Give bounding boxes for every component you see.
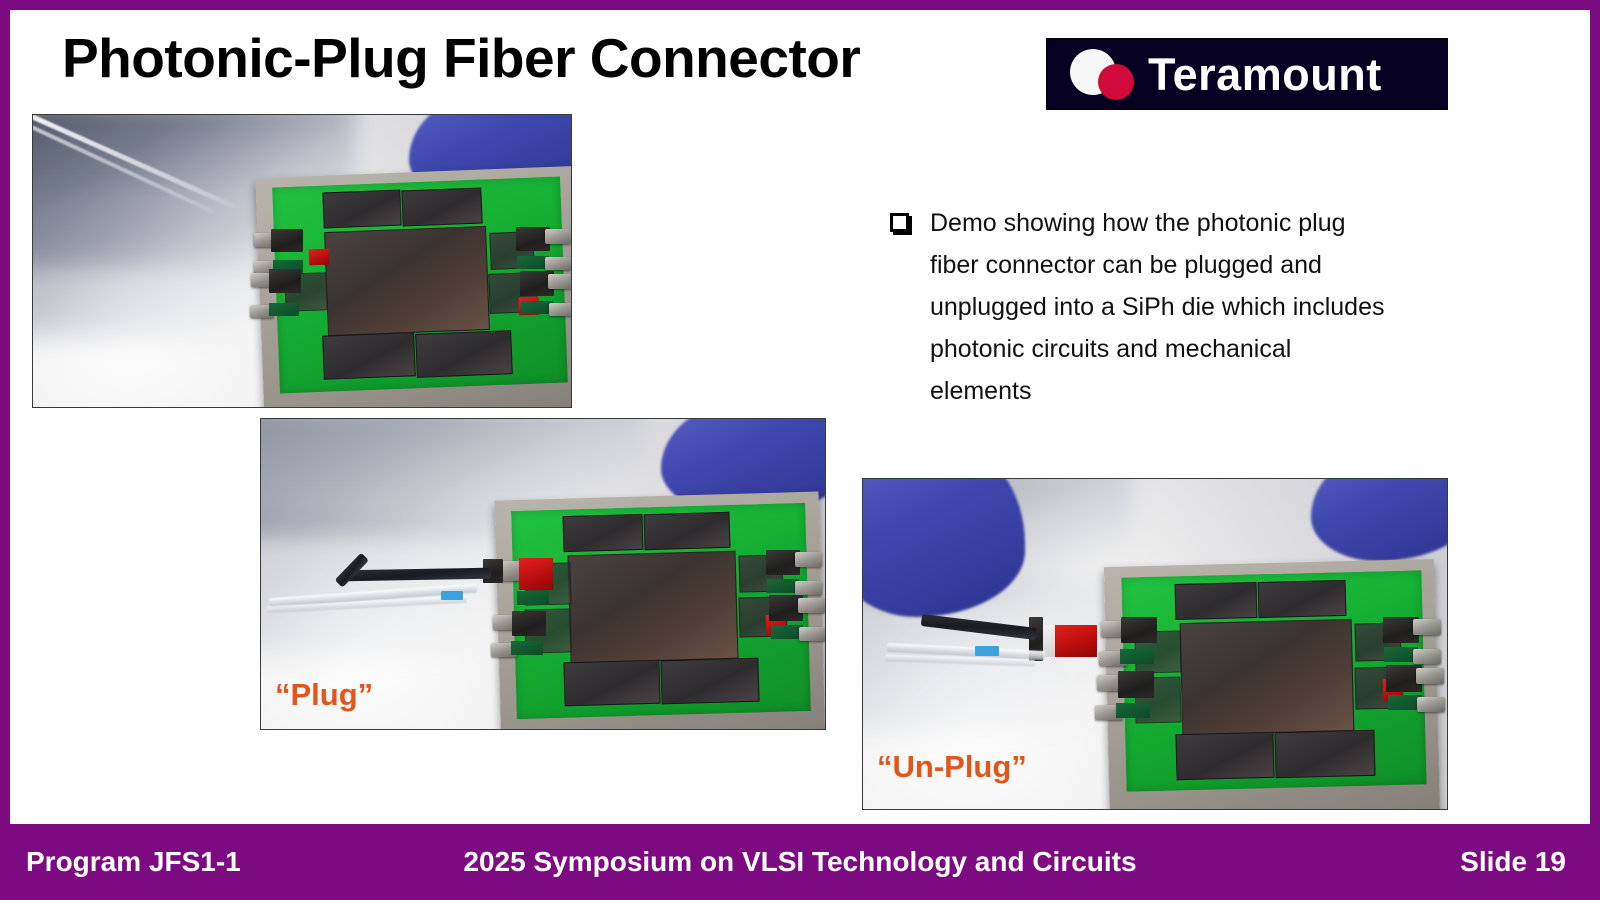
photo-caption-plug: “Plug” bbox=[275, 677, 373, 713]
hollow-square-bullet-icon bbox=[890, 213, 912, 235]
bullet-item-text: Demo showing how the photonic plug fiber… bbox=[930, 202, 1390, 412]
teramount-logo: Teramount bbox=[1046, 38, 1448, 110]
footer-bar: Program JFS1-1 2025 Symposium on VLSI Te… bbox=[0, 824, 1600, 900]
footer-slide-number: Slide 19 bbox=[1460, 846, 1566, 878]
slide: Photonic-Plug Fiber Connector Teramount … bbox=[0, 0, 1600, 900]
footer-conference: 2025 Symposium on VLSI Technology and Ci… bbox=[0, 846, 1600, 878]
logo-red-circle-icon bbox=[1098, 64, 1134, 100]
bullet-list: Demo showing how the photonic plug fiber… bbox=[890, 202, 1390, 412]
logo-circles-icon bbox=[1068, 43, 1154, 105]
page-title: Photonic-Plug Fiber Connector bbox=[62, 26, 860, 90]
siph-die bbox=[1180, 619, 1355, 735]
red-connector-latch bbox=[1053, 625, 1097, 657]
photo-siph-die-unplugged: “Un-Plug” bbox=[862, 478, 1448, 810]
photo-siph-die-plugged: “Plug” bbox=[260, 418, 826, 730]
red-connector-latch bbox=[519, 558, 553, 590]
siph-die bbox=[324, 226, 490, 336]
logo-wordmark: Teramount bbox=[1148, 52, 1382, 97]
photo-caption-unplug: “Un-Plug” bbox=[877, 749, 1027, 785]
photo-siph-die-unconnected bbox=[32, 114, 572, 408]
siph-die bbox=[568, 551, 739, 664]
gloved-finger bbox=[1311, 478, 1448, 561]
